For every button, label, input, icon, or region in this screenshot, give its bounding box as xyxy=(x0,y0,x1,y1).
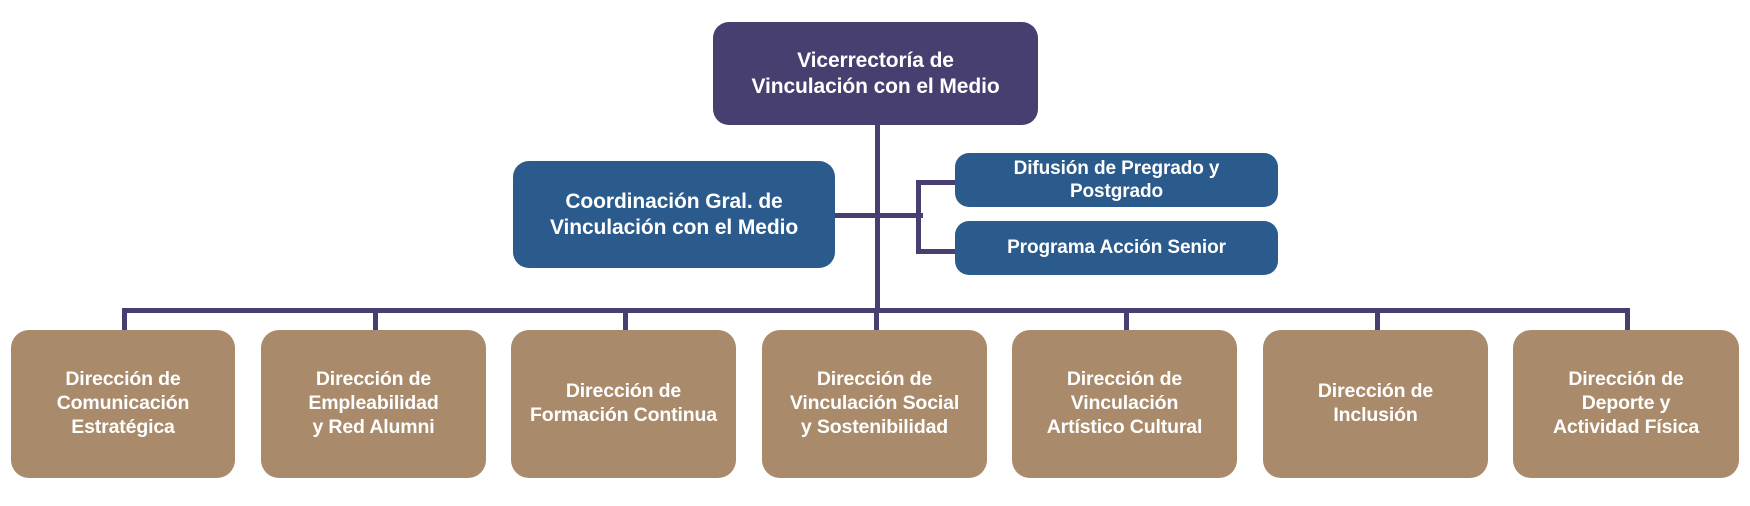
node-direccion-inclusion[interactable]: Dirección de Inclusión xyxy=(1263,330,1488,478)
org-chart: Vicerrectoría de Vinculación con el Medi… xyxy=(0,0,1750,506)
node-direccion-inclusion-label: Dirección de Inclusión xyxy=(1308,380,1443,428)
node-coordinacion-general-label: Coordinación Gral. de Vinculación con el… xyxy=(540,189,808,240)
node-direccion-comunicacion-estrategica[interactable]: Dirección de Comunicación Estratégica xyxy=(11,330,235,478)
node-direccion-empleabilidad-red-alumni[interactable]: Dirección de Empleabilidad y Red Alumni xyxy=(261,330,486,478)
node-direccion-vinculacion-artistico-cultural-label: Dirección de Vinculación Artístico Cultu… xyxy=(1037,368,1212,439)
node-direccion-deporte-actividad-fisica-label: Dirección de Deporte y Actividad Física xyxy=(1543,368,1709,439)
node-direccion-empleabilidad-red-alumni-label: Dirección de Empleabilidad y Red Alumni xyxy=(298,368,448,439)
node-programa-accion-senior[interactable]: Programa Acción Senior xyxy=(955,221,1278,275)
node-coordinacion-general[interactable]: Coordinación Gral. de Vinculación con el… xyxy=(513,161,835,268)
node-direccion-formacion-continua[interactable]: Dirección de Formación Continua xyxy=(511,330,736,478)
node-direccion-formacion-continua-label: Dirección de Formación Continua xyxy=(520,380,727,428)
node-direccion-comunicacion-estrategica-label: Dirección de Comunicación Estratégica xyxy=(47,368,200,439)
node-direccion-vinculacion-artistico-cultural[interactable]: Dirección de Vinculación Artístico Cultu… xyxy=(1012,330,1237,478)
connector-coordination-horizontal xyxy=(833,213,923,218)
node-vicerrectoria-label: Vicerrectoría de Vinculación con el Medi… xyxy=(741,48,1009,99)
node-direccion-deporte-actividad-fisica[interactable]: Dirección de Deporte y Actividad Física xyxy=(1513,330,1739,478)
connector-programs-bracket-vertical xyxy=(916,180,921,254)
node-direccion-vinculacion-social-sostenibilidad-label: Dirección de Vinculación Social y Sosten… xyxy=(780,368,969,439)
node-vicerrectoria[interactable]: Vicerrectoría de Vinculación con el Medi… xyxy=(713,22,1038,125)
connector-root-trunk xyxy=(875,125,880,313)
node-direccion-vinculacion-social-sostenibilidad[interactable]: Dirección de Vinculación Social y Sosten… xyxy=(762,330,987,478)
node-difusion-pregrado-postgrado[interactable]: Difusión de Pregrado y Postgrado xyxy=(955,153,1278,207)
node-difusion-pregrado-postgrado-label: Difusión de Pregrado y Postgrado xyxy=(1004,157,1230,203)
node-programa-accion-senior-label: Programa Acción Senior xyxy=(997,236,1236,259)
